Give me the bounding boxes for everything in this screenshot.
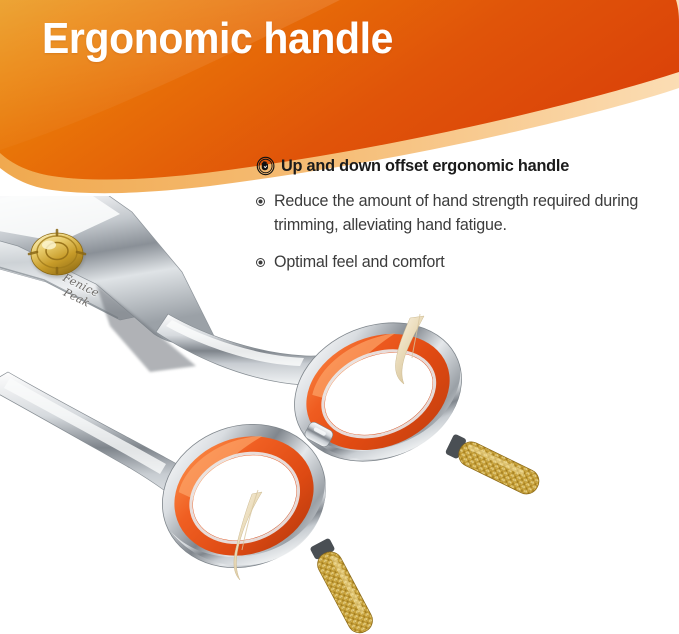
upper-knurled-grip: [455, 438, 543, 498]
scissors-product-image: [0, 196, 600, 634]
feature-heading-text: Up and down offset ergonomic handle: [281, 155, 569, 176]
lower-tang-rest: [308, 537, 377, 634]
page-title: Ergonomic handle: [42, 16, 393, 62]
screw-highlight: [42, 241, 56, 250]
hand-palm-circle-icon: [256, 156, 275, 176]
lower-knurled-grip: [313, 548, 376, 634]
feature-heading-row: Up and down offset ergonomic handle: [256, 155, 653, 176]
upper-tang-rest: [444, 433, 543, 498]
lower-shank-highlight: [4, 378, 166, 474]
product-feature-graphic: Ergonomic handle Up and down offset ergo…: [0, 0, 679, 634]
